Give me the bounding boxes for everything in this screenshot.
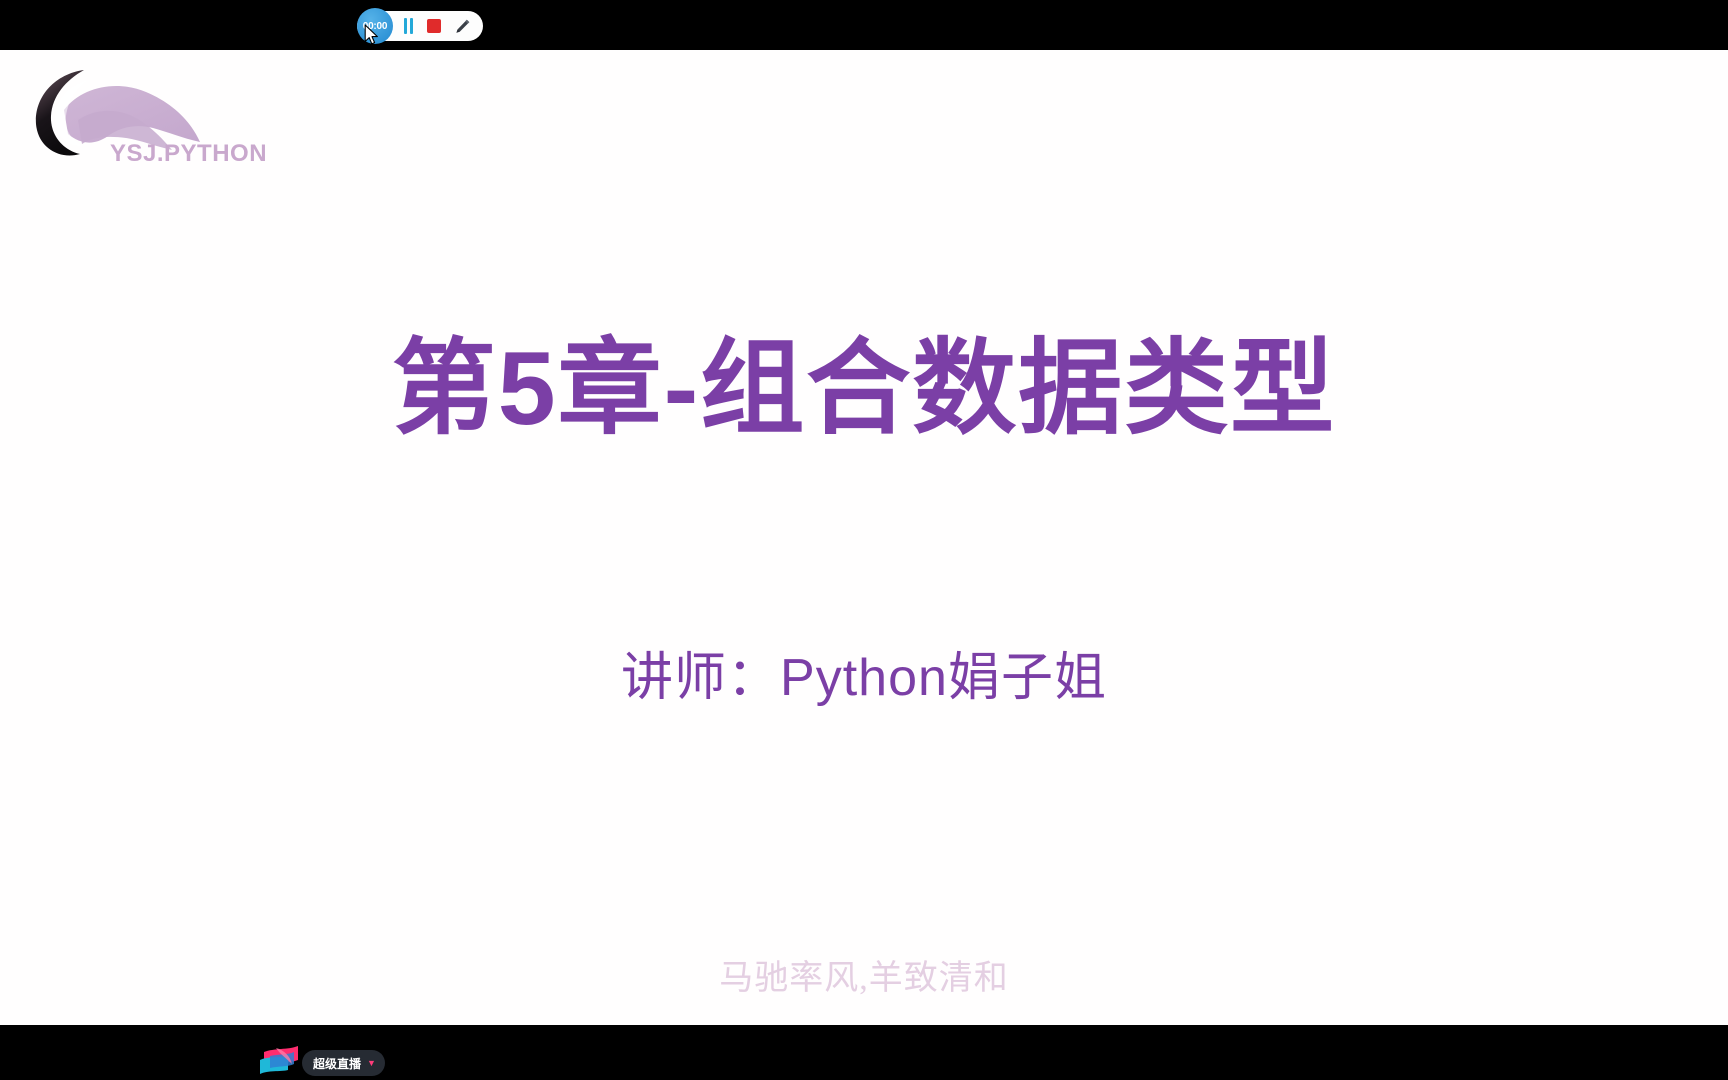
presentation-slide: YSJ.PYTHON 第5章-组合数据类型 讲师：Python娟子姐 马驰率风,… [0,50,1728,1025]
chevron-down-icon[interactable]: ▼ [367,1059,376,1068]
pause-button[interactable] [403,18,414,34]
taskbar-app-item[interactable]: 超级直播 ▼ [258,1046,385,1080]
slide-title: 第5章-组合数据类型 [0,330,1728,450]
recording-timer[interactable]: 00:00 [357,8,393,44]
logo-wordmark: YSJ.PYTHON [110,140,267,168]
stop-record-icon [427,19,441,33]
screen-root: YSJ.PYTHON 第5章-组合数据类型 讲师：Python娟子姐 马驰率风,… [0,0,1728,1080]
pause-icon [403,18,414,34]
live-streaming-app-icon [258,1046,306,1080]
annotate-button[interactable] [454,18,471,35]
pencil-annotate-icon [454,18,471,35]
brand-logo: YSJ.PYTHON [22,58,272,183]
taskbar-app-label[interactable]: 超级直播 ▼ [302,1050,385,1076]
recording-toolbar[interactable]: 00:00 [357,11,483,41]
taskbar-app-label-text: 超级直播 [313,1055,361,1072]
stop-record-button[interactable] [427,19,441,33]
slide-watermark: 马驰率风,羊致清和 [0,950,1728,999]
slide-subtitle: 讲师：Python娟子姐 [0,635,1728,710]
